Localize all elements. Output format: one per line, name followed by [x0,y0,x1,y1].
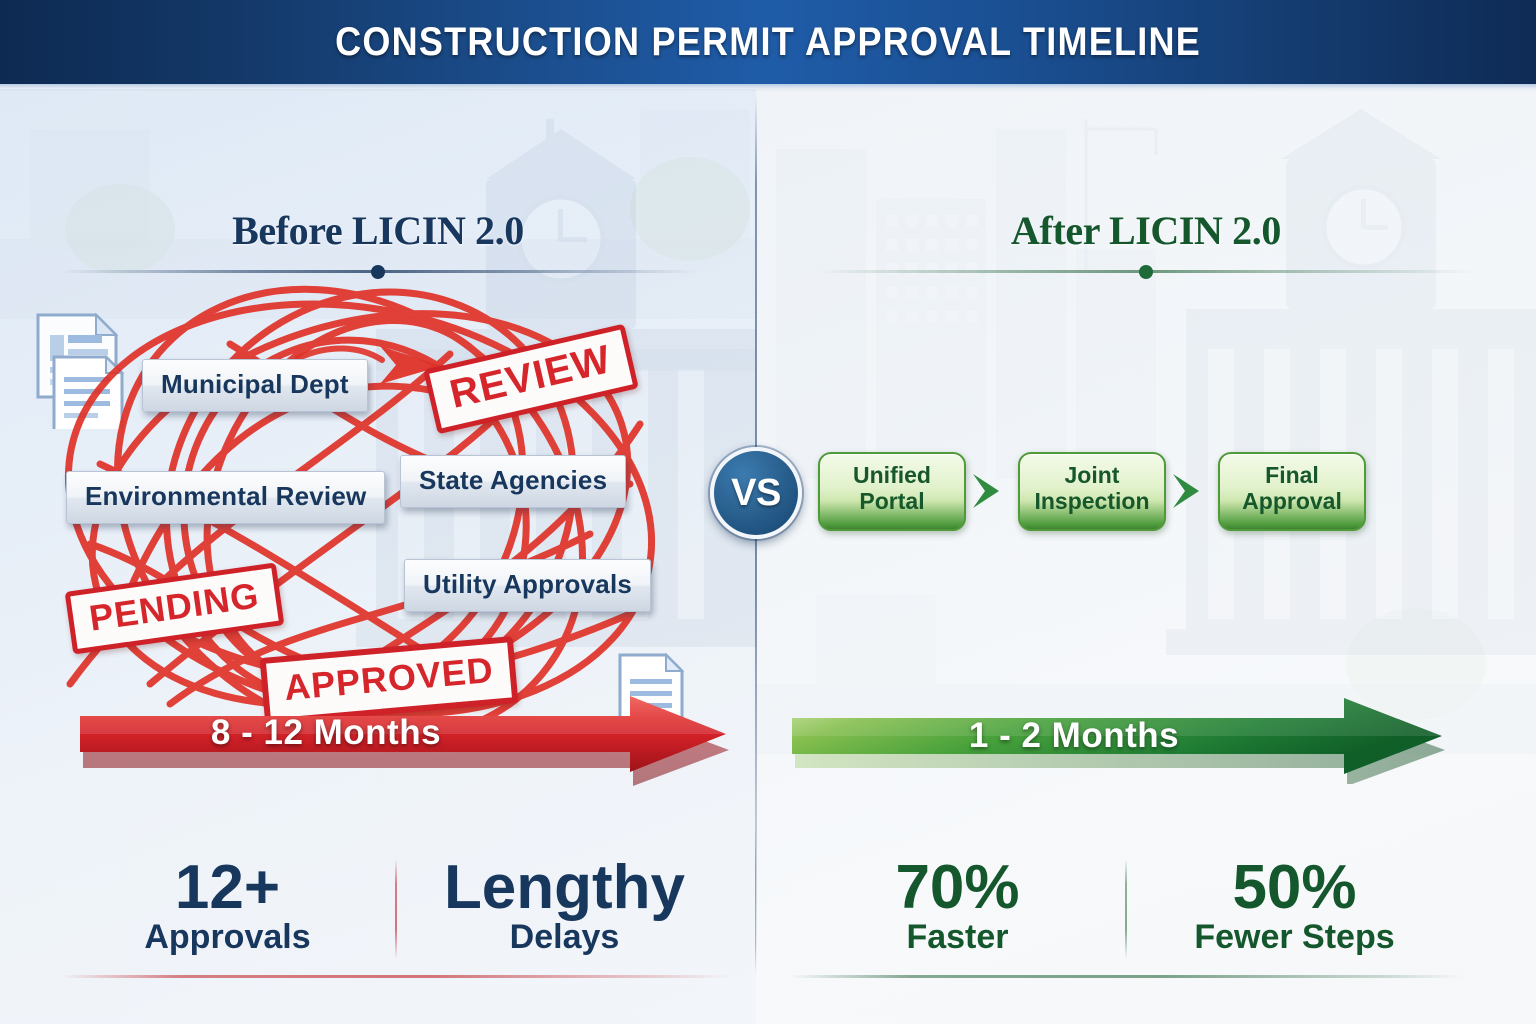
agency-box-municipal-dept[interactable]: Municipal Dept [142,359,368,412]
stat-before-approvals: 12+ Approvals [60,853,395,969]
after-section-title: After LICIN 2.0 [756,207,1536,254]
after-duration-arrow: 1 - 2 Months [778,690,1450,784]
infographic-canvas: CONSTRUCTION PERMIT APPROVAL TIMELINE [0,0,1536,1024]
streamlined-process-flow: Unified Portal Joint Inspection Final Ap… [818,452,1366,531]
versus-label: VS [731,472,781,515]
before-rule-dot [371,265,385,279]
after-title-rule [756,265,1536,279]
stat-value: 12+ [175,859,280,918]
before-title-rule [0,265,756,279]
red-arrow-icon [60,686,732,786]
agency-box-utility-approvals[interactable]: Utility Approvals [404,559,651,612]
page-title: CONSTRUCTION PERMIT APPROVAL TIMELINE [335,20,1201,65]
process-step-final-approval[interactable]: Final Approval [1218,452,1366,531]
stat-value: 50% [1232,859,1356,918]
stat-value: Lengthy [444,859,685,918]
stat-after-fewer-steps: 50% Fewer Steps [1127,853,1462,969]
green-arrow-icon [778,690,1450,784]
process-step-unified-portal[interactable]: Unified Portal [818,452,966,531]
stat-label: Delays [510,920,620,955]
after-stats-baseline [790,975,1462,978]
agency-box-state-agencies[interactable]: State Agencies [400,455,626,508]
stat-label: Approvals [144,920,310,955]
process-step-joint-inspection[interactable]: Joint Inspection [1018,452,1166,531]
header-banner: CONSTRUCTION PERMIT APPROVAL TIMELINE [0,0,1536,84]
flow-arrow-1 [966,470,1018,512]
versus-badge: VS [710,447,802,539]
before-stats-baseline [60,975,732,978]
stat-label: Fewer Steps [1194,920,1394,955]
before-section-title: Before LICIN 2.0 [0,207,756,254]
chevron-right-icon [969,470,1015,512]
before-stats: 12+ Approvals Lengthy Delays [60,853,732,969]
after-rule-dot [1139,265,1153,279]
header-underline [0,84,1536,89]
stat-value: 70% [895,859,1019,918]
stat-before-delays: Lengthy Delays [397,853,732,969]
before-duration-arrow: 8 - 12 Months [60,686,732,786]
flow-arrow-2 [1166,470,1218,512]
stat-after-faster: 70% Faster [790,853,1125,969]
chevron-right-icon [1169,470,1215,512]
stat-label: Faster [906,920,1008,955]
agency-box-environmental-review[interactable]: Environmental Review [66,471,385,524]
after-stats: 70% Faster 50% Fewer Steps [790,853,1462,969]
